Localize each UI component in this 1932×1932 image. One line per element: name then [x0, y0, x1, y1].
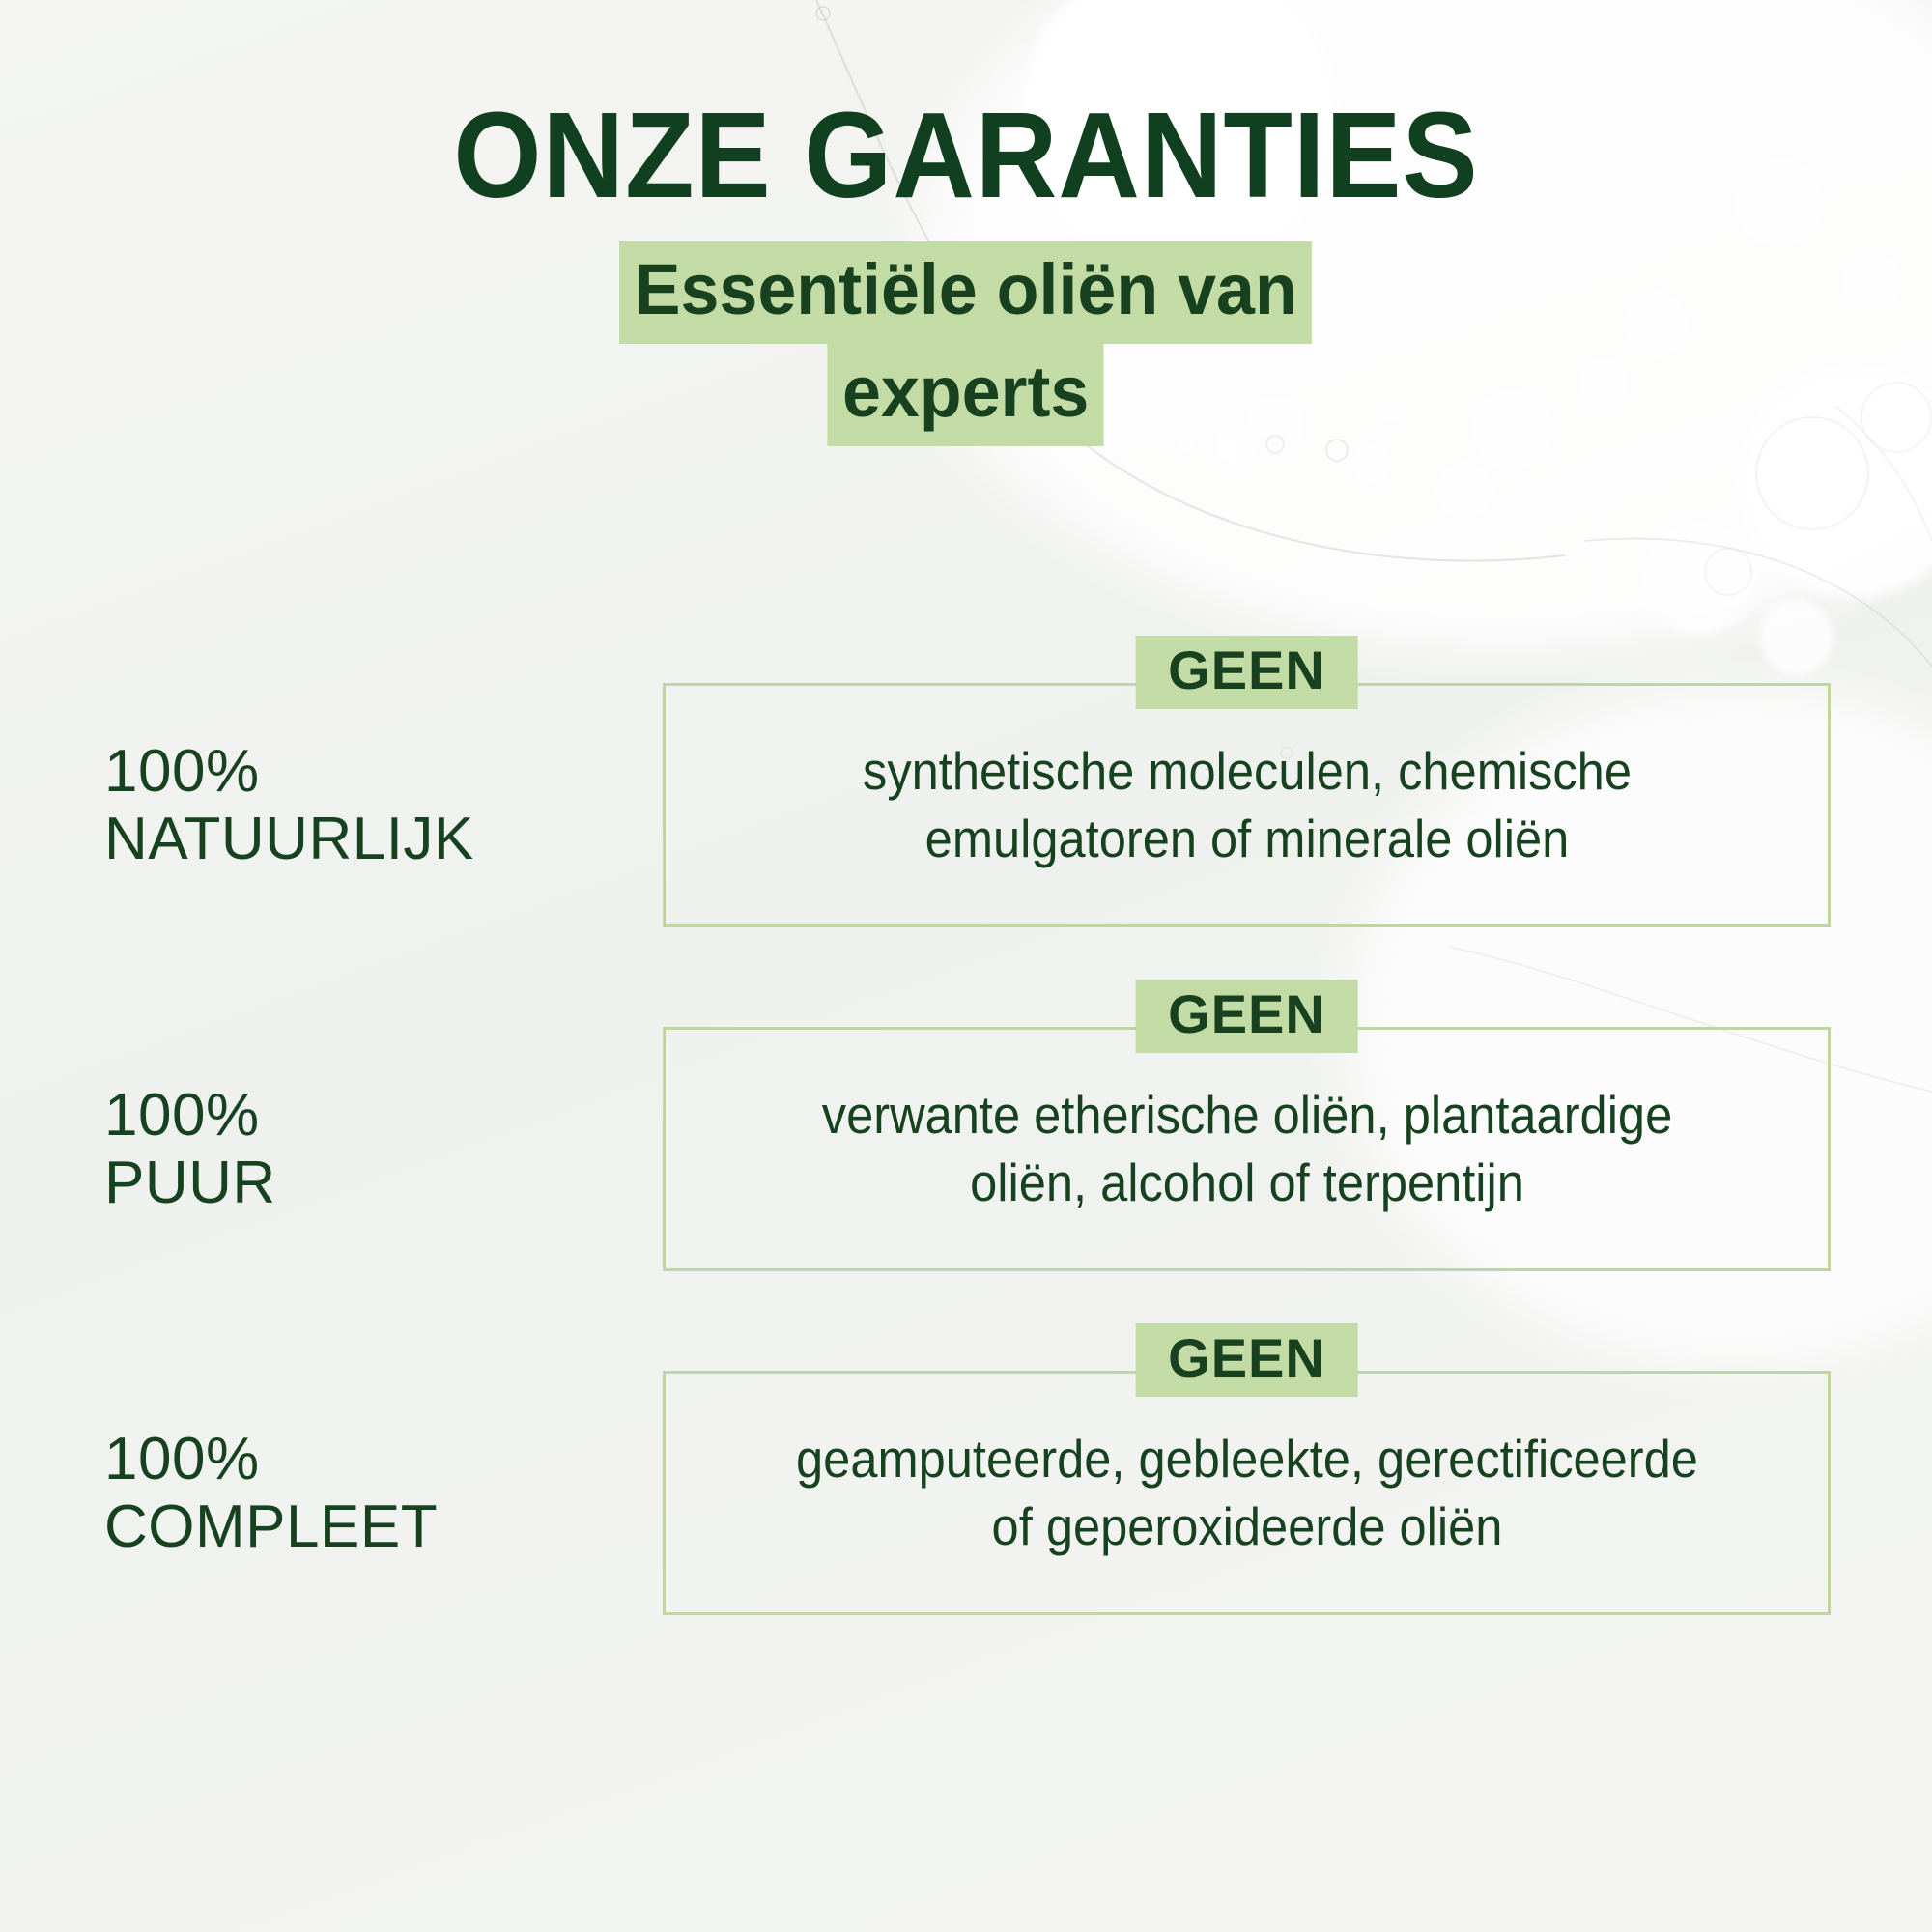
- geen-badge-1: GEEN: [1135, 636, 1358, 709]
- description-line-3b: of geperoxideerde oliën: [784, 1493, 1709, 1560]
- guarantee-row-natuurlijk: 100% NATUURLIJK GEEN synthetische molecu…: [0, 683, 1932, 927]
- guarantee-label-percent-1: 100%: [104, 738, 663, 805]
- guarantee-box-compleet: GEEN geamputeerde, gebleekte, gerectific…: [663, 1371, 1831, 1615]
- page-title: ONZE GARANTIES: [68, 95, 1864, 216]
- guarantee-box-puur: GEEN verwante etherische oliën, plantaar…: [663, 1027, 1831, 1271]
- description-line-1b: emulgatoren of minerale oliën: [784, 806, 1709, 872]
- guarantee-description-2: verwante etherische oliën, plantaardige …: [784, 1082, 1709, 1216]
- page-subtitle: Essentiële oliën van experts: [0, 241, 1932, 446]
- description-line-1a: synthetische moleculen, chemische: [784, 738, 1709, 805]
- page-header: ONZE GARANTIES Essentiële oliën van expe…: [0, 0, 1932, 446]
- guarantee-label-name-3: COMPLEET: [104, 1493, 663, 1560]
- guarantee-label-natuurlijk: 100% NATUURLIJK: [0, 738, 663, 872]
- subtitle-text-2: experts: [828, 344, 1104, 446]
- description-line-3a: geamputeerde, gebleekte, gerectificeerde: [784, 1426, 1709, 1492]
- guarantee-label-name-1: NATUURLIJK: [104, 806, 663, 872]
- subtitle-line-1: Essentiële oliën van: [0, 241, 1932, 344]
- description-line-2a: verwante etherische oliën, plantaardige: [784, 1082, 1709, 1149]
- guarantee-row-compleet: 100% COMPLEET GEEN geamputeerde, gebleek…: [0, 1371, 1932, 1615]
- guarantee-label-compleet: 100% COMPLEET: [0, 1426, 663, 1560]
- guarantee-row-puur: 100% PUUR GEEN verwante etherische oliën…: [0, 1027, 1932, 1271]
- geen-badge-3: GEEN: [1135, 1323, 1358, 1397]
- guarantee-description-1: synthetische moleculen, chemische emulga…: [784, 738, 1709, 872]
- guarantee-label-percent-2: 100%: [104, 1082, 663, 1149]
- guarantee-label-puur: 100% PUUR: [0, 1082, 663, 1216]
- subtitle-text-1: Essentiële oliën van: [619, 241, 1312, 344]
- geen-badge-2: GEEN: [1135, 980, 1358, 1053]
- subtitle-line-2: experts: [0, 344, 1932, 446]
- guarantee-box-natuurlijk: GEEN synthetische moleculen, chemische e…: [663, 683, 1831, 927]
- guarantee-label-percent-3: 100%: [104, 1426, 663, 1492]
- guarantee-description-3: geamputeerde, gebleekte, gerectificeerde…: [784, 1426, 1709, 1560]
- description-line-2b: oliën, alcohol of terpentijn: [784, 1150, 1709, 1216]
- guarantee-label-name-2: PUUR: [104, 1150, 663, 1216]
